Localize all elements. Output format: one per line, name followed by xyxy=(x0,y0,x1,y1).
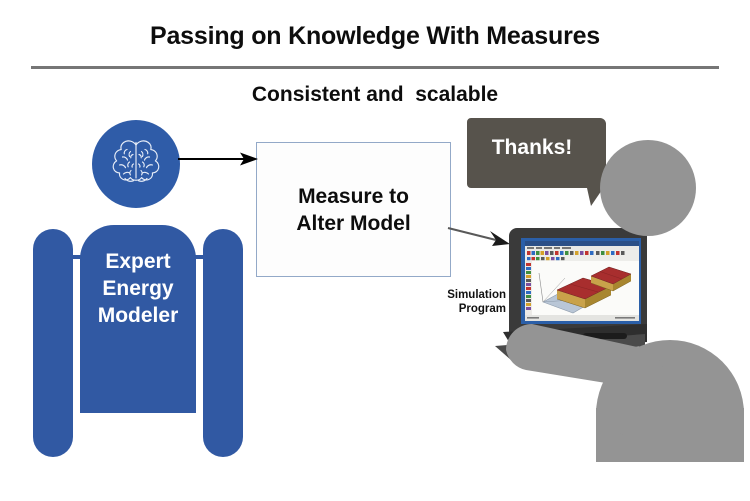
expert-figure xyxy=(33,225,243,465)
simulation-program-caption: Simulation Program xyxy=(398,288,506,316)
recipient-figure xyxy=(492,122,750,462)
diagram-canvas: Passing on Knowledge With Measures Consi… xyxy=(0,0,750,501)
process-box-label: Measure to Alter Model xyxy=(296,183,410,237)
brain-icon xyxy=(92,120,180,208)
process-box[interactable]: Measure to Alter Model xyxy=(256,142,451,277)
arrow-brain-to-process xyxy=(178,148,260,170)
page-title: Passing on Knowledge With Measures xyxy=(0,22,750,51)
page-subtitle: Consistent and scalable xyxy=(0,83,750,107)
title-divider xyxy=(31,66,719,69)
